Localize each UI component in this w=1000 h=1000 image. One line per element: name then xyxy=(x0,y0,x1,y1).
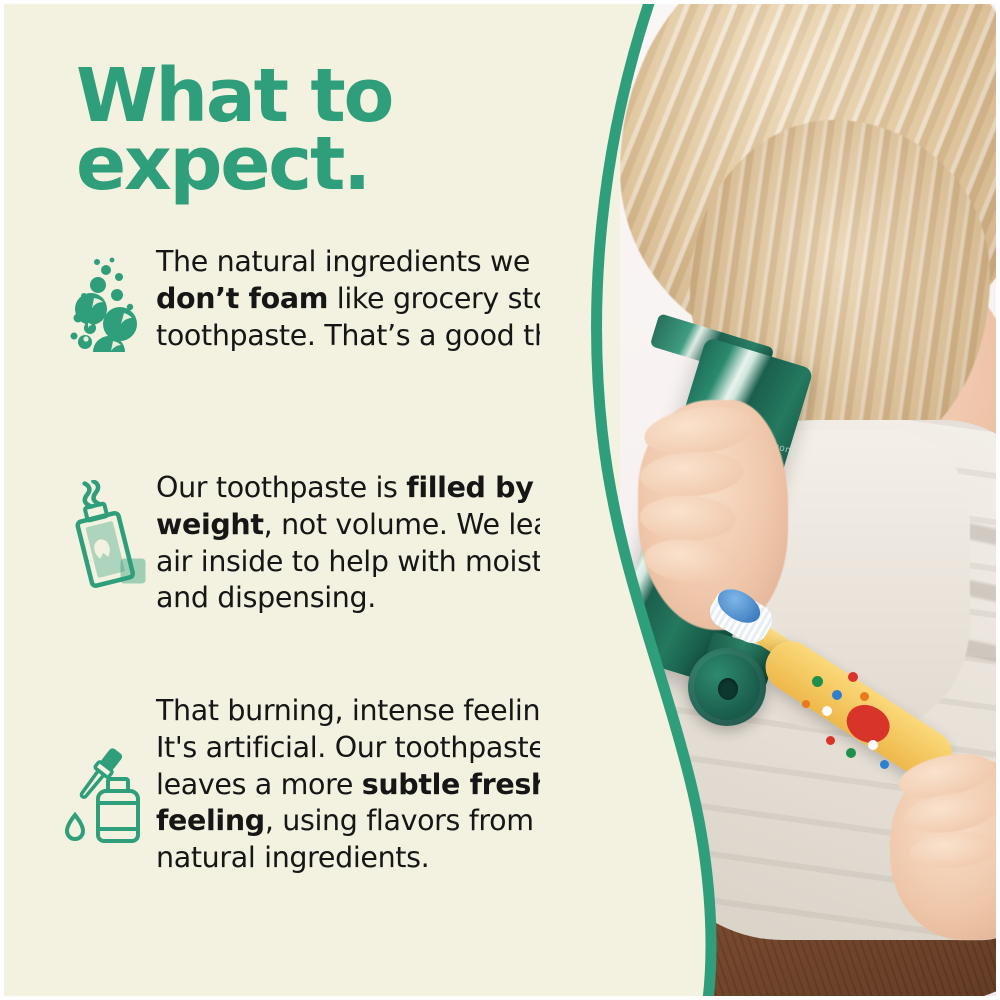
headline-line-2: expect. xyxy=(76,130,576,198)
copy-panel: What to expect. xyxy=(0,0,620,1000)
brush-dot xyxy=(832,690,842,700)
dropper-bottle-icon xyxy=(60,741,152,856)
brush-dot xyxy=(848,672,858,682)
brush-dot xyxy=(880,760,889,769)
brush-dot xyxy=(802,700,810,708)
product-photo: fluoride free Hello fresh Mint NET WT 4.… xyxy=(560,0,1000,1000)
benefit-text-2: Our toothpaste is filled by weight, not … xyxy=(156,470,606,617)
body-text: The natural ingredients we use xyxy=(156,245,588,278)
brush-dot xyxy=(868,740,878,750)
brush-dot xyxy=(826,736,835,745)
body-text: Our toothpaste is xyxy=(156,471,406,504)
benefit-text-3: That burning, intense feeling? It's arti… xyxy=(156,693,606,877)
brush-dot xyxy=(846,748,856,758)
brush-dot xyxy=(812,676,823,687)
bubbles-icon xyxy=(60,252,152,357)
emphasis-text: don’t foam xyxy=(156,282,328,315)
tube-cap-hole xyxy=(718,678,738,700)
advertisement-graphic: fluoride free Hello fresh Mint NET WT 4.… xyxy=(0,0,1000,1000)
benefit-text-1: The natural ingredients we use don’t foa… xyxy=(156,244,606,354)
brush-dot xyxy=(860,692,869,701)
toothpaste-tube-icon xyxy=(60,480,152,595)
brush-dot xyxy=(822,706,832,716)
page-title: What to expect. xyxy=(76,62,576,198)
